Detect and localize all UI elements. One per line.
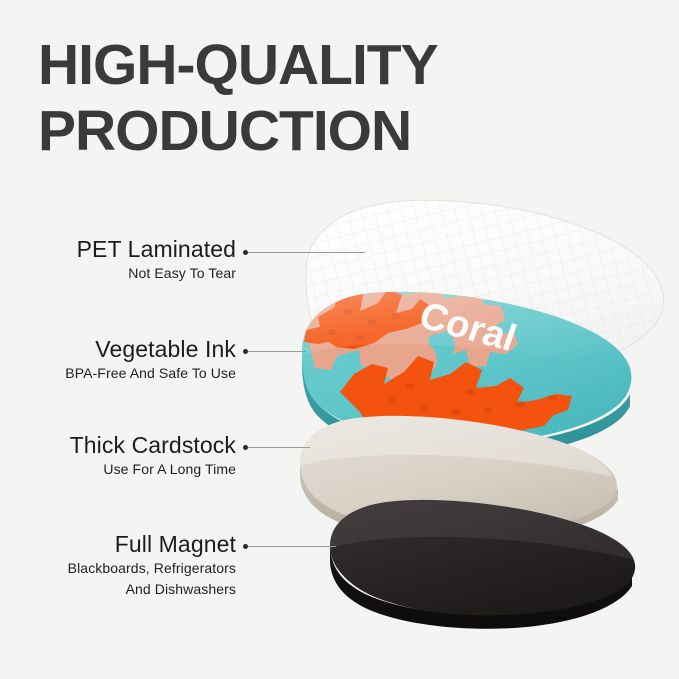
callout-sub-cardstock: Use For A Long Time xyxy=(70,459,236,480)
callout-full-magnet: Full Magnet Blackboards, Refrigerators A… xyxy=(68,531,236,600)
leader-line-magnet xyxy=(248,546,336,547)
leader-line-ink xyxy=(248,351,306,352)
leader-line-pet xyxy=(248,252,365,253)
cardstock-layer xyxy=(300,416,618,543)
artwork-label: Coral xyxy=(414,295,521,360)
pet-laminate-layer xyxy=(306,200,664,382)
callout-title-ink: Vegetable Ink xyxy=(65,336,236,363)
callout-sub-magnet-2: And Dishwashers xyxy=(68,579,236,600)
callout-title-magnet: Full Magnet xyxy=(68,531,236,558)
title-line-1: HIGH-QUALITY xyxy=(38,32,558,98)
callout-vegetable-ink: Vegetable Ink BPA-Free And Safe To Use xyxy=(65,336,236,384)
coral-salmon-shape xyxy=(300,272,518,382)
callout-sub-ink: BPA-Free And Safe To Use xyxy=(65,363,236,384)
callout-thick-cardstock: Thick Cardstock Use For A Long Time xyxy=(70,432,236,480)
printed-artwork-layer: Coral xyxy=(300,272,631,458)
magnet-layer xyxy=(330,500,635,629)
callout-sub-pet: Not Easy To Tear xyxy=(77,263,236,284)
leader-line-cardstock xyxy=(248,447,310,448)
page-title: HIGH-QUALITY PRODUCTION xyxy=(38,32,558,164)
callout-title-pet: PET Laminated xyxy=(77,236,236,263)
coral-artwork xyxy=(300,272,630,448)
infographic-canvas: HIGH-QUALITY PRODUCTION xyxy=(0,0,679,679)
coral-texture-dots xyxy=(327,309,556,416)
callout-sub-magnet-1: Blackboards, Refrigerators xyxy=(68,558,236,579)
coral-orange-shape xyxy=(304,286,572,448)
callout-pet-laminated: PET Laminated Not Easy To Tear xyxy=(77,236,236,284)
title-line-2: PRODUCTION xyxy=(38,98,558,164)
callout-title-cardstock: Thick Cardstock xyxy=(70,432,236,459)
